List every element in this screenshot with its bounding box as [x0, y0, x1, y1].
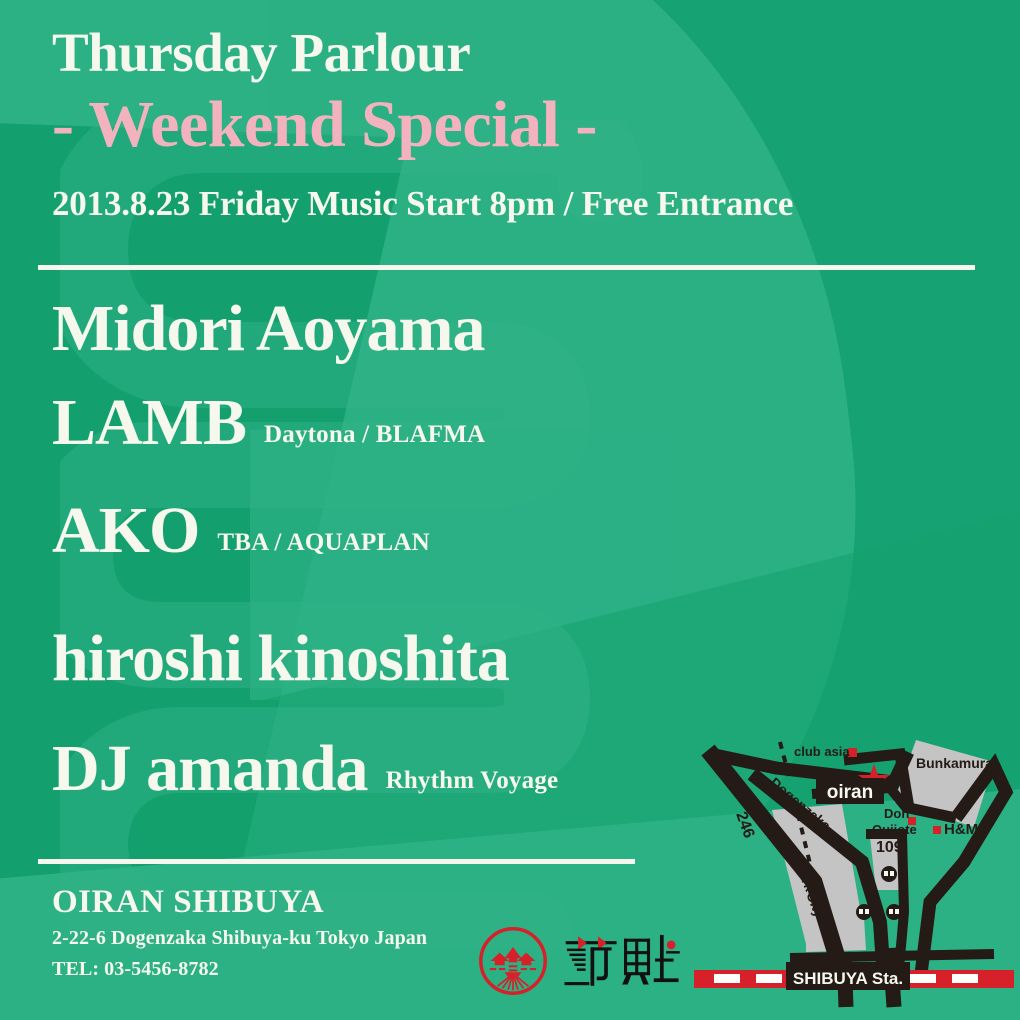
- artist-lineup: Midori Aoyama LAMB Daytona / BLAFMA AKO …: [52, 296, 742, 802]
- map-label-shibuya-station: SHIBUYA Sta.: [793, 969, 903, 988]
- map-label-club-asia: club asia: [794, 744, 850, 759]
- lineup-item: AKO TBA / AQUAPLAN: [52, 498, 742, 564]
- venue-block: OIRAN SHIBUYA 2-22-6 Dogenzaka Shibuya-k…: [52, 884, 427, 983]
- oiran-kanji-logo-icon: [562, 930, 686, 992]
- event-details: 2013.8.23 Friday Music Start 8pm / Free …: [52, 184, 982, 224]
- map-oiran-block: oiran: [816, 778, 884, 804]
- artist-name: hiroshi kinoshita: [52, 626, 509, 692]
- map-label-hm: H&M: [944, 821, 978, 838]
- header-block: Thursday Parlour - Weekend Special - 201…: [52, 24, 982, 224]
- artist-name: LAMB: [52, 390, 246, 456]
- lineup-item: DJ amanda Rhythm Voyage: [52, 736, 742, 802]
- artist-name: DJ amanda: [52, 736, 368, 802]
- venue-address: 2-22-6 Dogenzaka Shibuya-ku Tokyo Japan: [52, 925, 427, 952]
- divider-bottom: [38, 859, 635, 864]
- artist-affiliation: TBA / AQUAPLAN: [217, 529, 430, 557]
- oiran-seal-logo-icon: [478, 926, 548, 996]
- map-label-oiran: oiran: [827, 782, 873, 803]
- artist-name: Midori Aoyama: [52, 296, 484, 362]
- map-svg[interactable]: oiran club asia Bunkamura: [694, 722, 1014, 1012]
- location-map[interactable]: oiran club asia Bunkamura: [694, 722, 1014, 1012]
- lineup-item: LAMB Daytona / BLAFMA: [52, 390, 742, 456]
- lineup-item: Midori Aoyama: [52, 296, 742, 362]
- map-label-don-quijote-1: Don: [884, 806, 909, 821]
- venue-name: OIRAN SHIBUYA: [52, 884, 427, 921]
- page-title: Thursday Parlour: [52, 24, 982, 82]
- artist-name: AKO: [52, 498, 199, 564]
- page-subtitle: - Weekend Special -: [52, 88, 982, 162]
- map-label-bunkamura: Bunkamura: [916, 755, 993, 771]
- divider-top: [38, 265, 975, 270]
- logo-group: [478, 926, 686, 996]
- map-label-don-quijote-2: Quijote: [872, 822, 917, 837]
- venue-telephone: TEL: 03-5456-8782: [52, 956, 427, 983]
- event-flyer: Thursday Parlour - Weekend Special - 201…: [0, 0, 1020, 1020]
- artist-affiliation: Daytona / BLAFMA: [264, 421, 485, 449]
- map-label-109: 109: [876, 839, 903, 856]
- artist-affiliation: Rhythm Voyage: [386, 767, 559, 795]
- lineup-item: hiroshi kinoshita: [52, 626, 742, 692]
